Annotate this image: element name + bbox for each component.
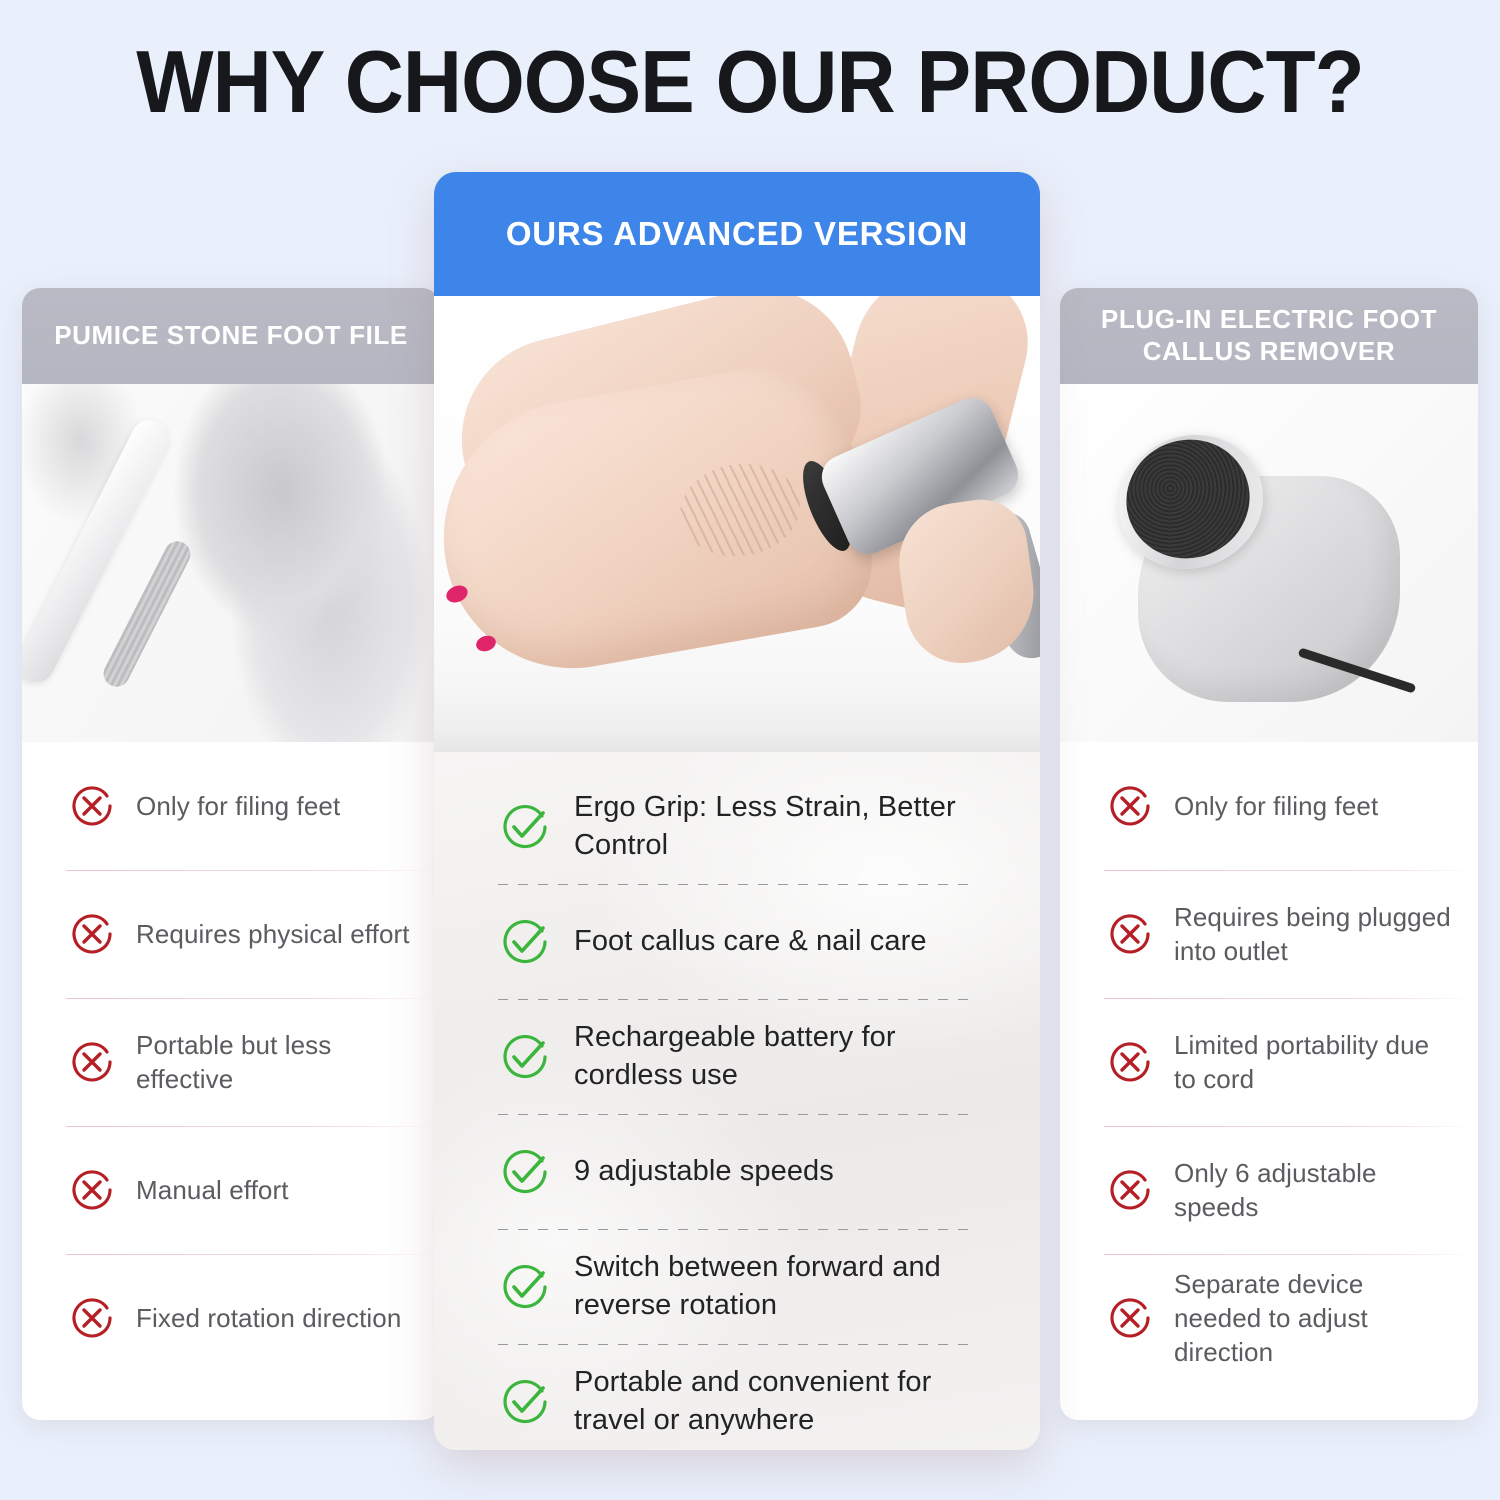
list-item-label: Limited portability due to cord	[1174, 1028, 1452, 1097]
cross-icon	[1106, 782, 1154, 830]
check-icon	[498, 1145, 552, 1199]
list-separator	[498, 884, 978, 885]
list-item: Only for filing feet	[1060, 742, 1478, 870]
list-item: Foot callus care & nail care	[464, 893, 1010, 991]
cross-icon	[1106, 1294, 1154, 1342]
comparison-card-plug-in-remover: PLUG-IN ELECTRIC FOOT CALLUS REMOVER Onl…	[1060, 288, 1478, 1420]
product-photo-pumice-stone	[22, 384, 440, 742]
list-item: Portable but less effective	[22, 998, 440, 1126]
list-item-label: Portable but less effective	[136, 1028, 414, 1097]
list-item: Manual effort	[22, 1126, 440, 1254]
cross-icon	[1106, 910, 1154, 958]
floor-shadow	[434, 694, 1040, 752]
column-header-center: OURS ADVANCED VERSION	[434, 172, 1040, 296]
list-item: Requires physical effort	[22, 870, 440, 998]
cross-icon	[68, 1166, 116, 1214]
list-item-label: Separate device needed to adjust directi…	[1174, 1267, 1452, 1370]
list-item-label: Ergo Grip: Less Strain, Better Control	[574, 789, 1004, 864]
list-item-label: Switch between forward and reverse rotat…	[574, 1249, 1004, 1324]
list-item-label: Foot callus care & nail care	[574, 923, 927, 961]
cross-icon	[68, 910, 116, 958]
check-icon	[498, 1260, 552, 1314]
list-item: Requires being plugged into outlet	[1060, 870, 1478, 998]
cross-icon	[68, 1038, 116, 1086]
list-item-label: Requires physical effort	[136, 917, 410, 951]
check-icon	[498, 1030, 552, 1084]
list-item-label: Manual effort	[136, 1173, 289, 1207]
list-item-label: Rechargeable battery for cordless use	[574, 1019, 1004, 1094]
list-item-label: Requires being plugged into outlet	[1174, 900, 1452, 969]
cross-icon	[1106, 1166, 1154, 1214]
list-item-label: Portable and convenient for travel or an…	[574, 1364, 1004, 1439]
feature-list-left: Only for filing feet Requires physical e…	[22, 742, 440, 1382]
list-item: Portable and convenient for travel or an…	[464, 1353, 1010, 1450]
product-photo-ours-advanced	[434, 296, 1040, 752]
list-item-label: 9 adjustable speeds	[574, 1153, 834, 1191]
list-item: 9 adjustable speeds	[464, 1123, 1010, 1221]
plug-in-remover-image	[1060, 384, 1478, 742]
comparison-card-ours-advanced: OURS ADVANCED VERSION Ergo Grip: Less St…	[434, 172, 1040, 1450]
cross-icon	[68, 1294, 116, 1342]
list-item: Separate device needed to adjust directi…	[1060, 1254, 1478, 1382]
list-separator	[498, 1229, 978, 1230]
feature-list-center: Ergo Grip: Less Strain, Better Control F…	[434, 752, 1040, 1450]
list-item: Only 6 adjustable speeds	[1060, 1126, 1478, 1254]
page-title: WHY CHOOSE OUR PRODUCT?	[53, 38, 1448, 126]
check-icon	[498, 800, 552, 854]
cross-icon	[68, 782, 116, 830]
list-separator	[498, 1344, 978, 1345]
list-item: Switch between forward and reverse rotat…	[464, 1238, 1010, 1336]
column-header-left: PUMICE STONE FOOT FILE	[22, 288, 440, 384]
product-photo-plug-in-remover	[1060, 384, 1478, 742]
list-separator	[498, 999, 978, 1000]
feature-list-right: Only for filing feet Requires being plug…	[1060, 742, 1478, 1382]
list-item: Rechargeable battery for cordless use	[464, 1008, 1010, 1106]
list-separator	[498, 1114, 978, 1115]
list-item: Only for filing feet	[22, 742, 440, 870]
cross-icon	[1106, 1038, 1154, 1086]
list-item: Ergo Grip: Less Strain, Better Control	[464, 778, 1010, 876]
pumice-foot-file-image	[22, 384, 440, 742]
list-item: Limited portability due to cord	[1060, 998, 1478, 1126]
list-item-label: Fixed rotation direction	[136, 1301, 401, 1335]
list-item: Fixed rotation direction	[22, 1254, 440, 1382]
column-header-right: PLUG-IN ELECTRIC FOOT CALLUS REMOVER	[1060, 288, 1478, 384]
list-item-label: Only 6 adjustable speeds	[1174, 1156, 1452, 1225]
check-icon	[498, 915, 552, 969]
list-item-label: Only for filing feet	[136, 789, 340, 823]
check-icon	[498, 1375, 552, 1429]
comparison-card-pumice-stone: PUMICE STONE FOOT FILE Only for filing f…	[22, 288, 440, 1420]
list-item-label: Only for filing feet	[1174, 789, 1378, 823]
